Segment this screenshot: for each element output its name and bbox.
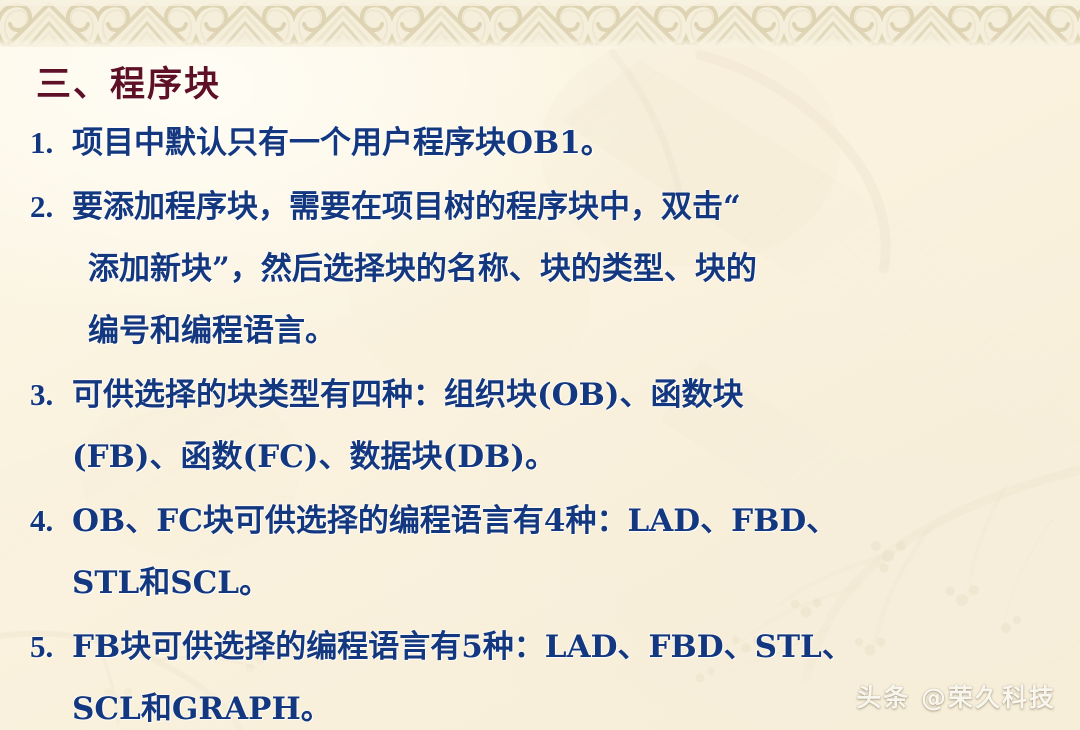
- list-item-line: STL和SCL。: [72, 552, 1060, 614]
- list-item-body: 要添加程序块，需要在项目树的程序块中，双击“ 添加新块”，然后选择块的名称、块的…: [72, 176, 1060, 362]
- list-item-number: 4.: [30, 490, 72, 552]
- page-title: 三、程序块: [36, 56, 221, 107]
- list-item: 3. 可供选择的块类型有四种：组织块(OB)、函数块 (FB)、函数(FC)、数…: [30, 364, 1060, 488]
- list-item: 4. OB、FC块可供选择的编程语言有4种：LAD、FBD、 STL和SCL。: [30, 490, 1060, 614]
- list-item-number: 3.: [30, 364, 72, 426]
- watermark-signature: 头条 @荣久科技: [856, 678, 1056, 714]
- list-item-number: 1.: [30, 112, 72, 174]
- list-item-line: 添加新块”，然后选择块的名称、块的类型、块的: [72, 238, 1060, 300]
- list-item-body: 可供选择的块类型有四种：组织块(OB)、函数块 (FB)、函数(FC)、数据块(…: [72, 364, 1060, 488]
- slide-content: 三、程序块 1. 项目中默认只有一个用户程序块OB1。 2. 要添加程序块，需要…: [0, 0, 1080, 730]
- list-item-line: (FB)、函数(FC)、数据块(DB)。: [72, 426, 1060, 488]
- list-item-body: OB、FC块可供选择的编程语言有4种：LAD、FBD、 STL和SCL。: [72, 490, 1060, 614]
- list-item-line: FB块可供选择的编程语言有5种：LAD、FBD、STL、: [72, 616, 1060, 678]
- list-item: 1. 项目中默认只有一个用户程序块OB1。: [30, 112, 1060, 174]
- list-item-line: 编号和编程语言。: [72, 300, 1060, 362]
- numbered-list: 1. 项目中默认只有一个用户程序块OB1。 2. 要添加程序块，需要在项目树的程…: [30, 112, 1060, 730]
- list-item: 2. 要添加程序块，需要在项目树的程序块中，双击“ 添加新块”，然后选择块的名称…: [30, 176, 1060, 362]
- list-item-line: 要添加程序块，需要在项目树的程序块中，双击“: [72, 176, 1060, 238]
- list-item-number: 2.: [30, 176, 72, 238]
- list-item-number: 5.: [30, 616, 72, 678]
- list-item-body: 项目中默认只有一个用户程序块OB1。: [72, 112, 1060, 174]
- list-item-line: 可供选择的块类型有四种：组织块(OB)、函数块: [72, 364, 1060, 426]
- slide-canvas: 三、程序块 1. 项目中默认只有一个用户程序块OB1。 2. 要添加程序块，需要…: [0, 0, 1080, 730]
- list-item-line: 项目中默认只有一个用户程序块OB1。: [72, 112, 1060, 174]
- list-item-line: OB、FC块可供选择的编程语言有4种：LAD、FBD、: [72, 490, 1060, 552]
